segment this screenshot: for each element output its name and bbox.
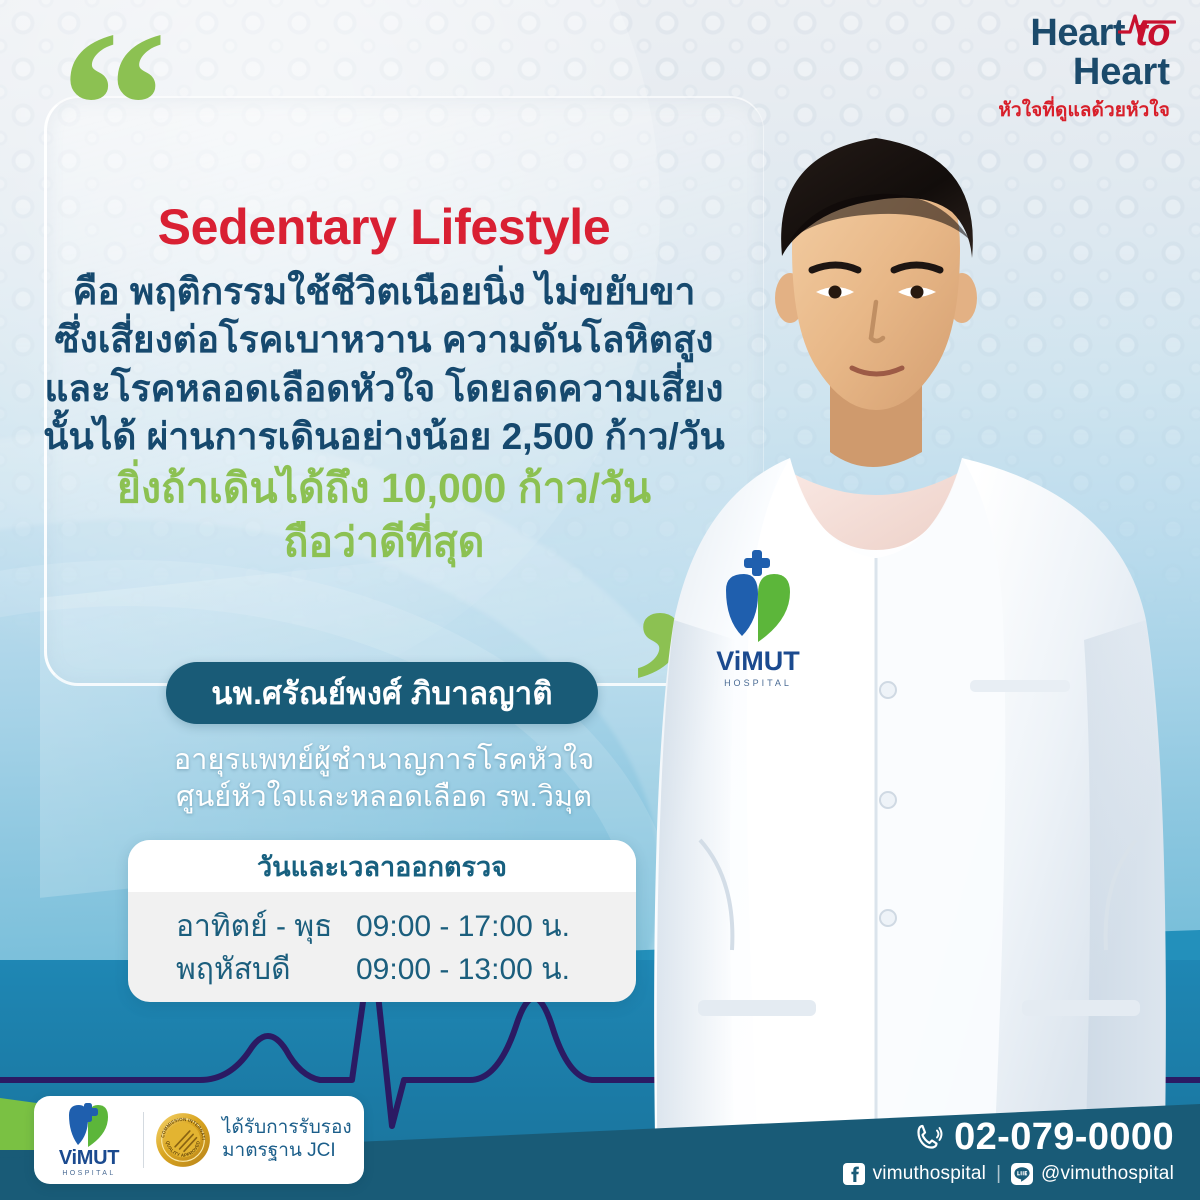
poster-canvas: “ ” Heart to Heart หัวใจที่ดูแลด้วยหัวใจ…: [0, 0, 1200, 1200]
phone-icon: [913, 1122, 943, 1152]
quote-open-icon: “: [60, 22, 168, 190]
schedule-day: อาทิตย์ - พุธ: [128, 906, 356, 949]
certification-card: ViMUT HOSPITAL JO: [34, 1096, 364, 1184]
separator: |: [996, 1163, 1001, 1185]
certification-line: มาตรฐาน JCI: [222, 1140, 352, 1163]
schedule-card: วันและเวลาออกตรวจ อาทิตย์ - พุธ 09:00 - …: [128, 840, 636, 1002]
phone-row[interactable]: 02-079-0000: [843, 1118, 1174, 1156]
vimut-logo: ViMUT HOSPITAL: [46, 1103, 132, 1177]
schedule-row: พฤหัสบดี 09:00 - 13:00 น.: [128, 949, 636, 992]
logo-line-1: Heart to: [940, 14, 1170, 53]
vimut-wordmark: ViMUT: [59, 1148, 119, 1168]
schedule-day: พฤหัสบดี: [128, 949, 356, 992]
schedule-rows: อาทิตย์ - พุธ 09:00 - 17:00 น. พฤหัสบดี …: [128, 892, 636, 991]
logo-heart-word-1: Heart: [1030, 12, 1125, 54]
social-row: vimuthospital | @vimuthospital: [843, 1163, 1174, 1185]
facebook-icon[interactable]: [843, 1163, 865, 1185]
vimut-mark-icon: [63, 1103, 115, 1147]
contact-block: 02-079-0000 vimuthospital |: [843, 1118, 1174, 1185]
pulse-line-icon: [1118, 10, 1176, 44]
credential-line: ศูนย์หัวใจและหลอดเลือด รพ.วิมุต: [60, 779, 708, 816]
svg-text:HOSPITAL: HOSPITAL: [724, 678, 792, 688]
certification-text: ได้รับการรับรอง มาตรฐาน JCI: [222, 1117, 352, 1163]
schedule-title: วันและเวลาออกตรวจ: [257, 845, 507, 888]
doctor-portrait: ViMUT HOSPITAL: [640, 80, 1200, 1200]
schedule-time: 09:00 - 17:00 น.: [356, 906, 636, 949]
jci-seal-icon: JOINT COMMISSION INTERNATIONAL QUALITY A…: [155, 1112, 211, 1168]
line-icon[interactable]: [1011, 1163, 1033, 1185]
schedule-time: 09:00 - 13:00 น.: [356, 949, 636, 992]
schedule-row: อาทิตย์ - พุธ 09:00 - 17:00 น.: [128, 906, 636, 949]
line-handle[interactable]: @vimuthospital: [1041, 1163, 1174, 1185]
vimut-subtitle: HOSPITAL: [62, 1170, 115, 1177]
schedule-header: วันและเวลาออกตรวจ: [128, 840, 636, 892]
doctor-name-badge: นพ.ศรัณย์พงศ์ ภิบาลญาติ: [166, 662, 598, 724]
svg-text:ViMUT: ViMUT: [716, 646, 800, 676]
divider: [143, 1112, 144, 1168]
doctor-name: นพ.ศรัณย์พงศ์ ภิบาลญาติ: [211, 668, 552, 718]
credential-line: อายุรแพทย์ผู้ชำนาญการโรคหัวใจ: [60, 742, 708, 779]
doctor-credentials: อายุรแพทย์ผู้ชำนาญการโรคหัวใจ ศูนย์หัวใจ…: [60, 742, 708, 816]
phone-number: 02-079-0000: [954, 1118, 1174, 1156]
certification-line: ได้รับการรับรอง: [222, 1117, 352, 1140]
facebook-handle[interactable]: vimuthospital: [873, 1163, 986, 1185]
